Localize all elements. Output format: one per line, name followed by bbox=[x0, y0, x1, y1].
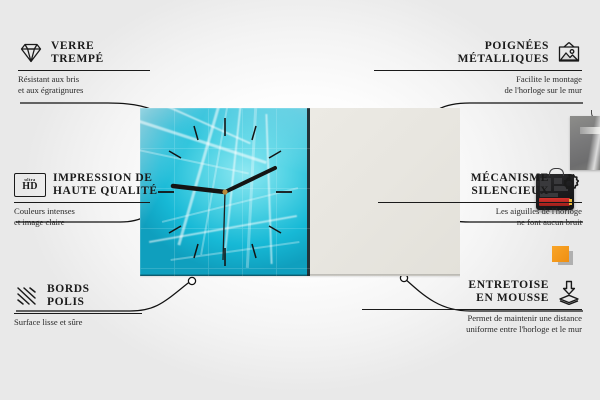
callout-title-line2: MÉTALLIQUES bbox=[458, 53, 549, 66]
callout-title-line1: BORDS bbox=[47, 283, 90, 296]
callout-bords-polis[interactable]: BORDS POLIS Surface lisse et sûre bbox=[14, 283, 142, 328]
clock-face bbox=[140, 108, 310, 276]
callout-rule bbox=[378, 202, 582, 203]
callout-title-line1: IMPRESSION DE bbox=[53, 172, 158, 185]
callout-mecanisme-silencieux[interactable]: MÉCANISME SILENCIEUX Les aiguilles de l'… bbox=[378, 172, 582, 227]
callout-title-line1: MÉCANISME bbox=[471, 172, 549, 185]
callout-desc-line2: de l'horloge sur le mur bbox=[374, 85, 582, 95]
callout-desc-line2: uniforme entre l'horloge et le mur bbox=[362, 324, 582, 334]
ultra-hd-large-text: HD bbox=[22, 182, 37, 192]
callout-impression-haute-qualite[interactable]: ultra HD IMPRESSION DE HAUTE QUALITÉ Cou… bbox=[14, 172, 158, 227]
callout-desc-line1: Permet de maintenir une distance bbox=[362, 313, 582, 323]
callout-verre-trempe[interactable]: VERRE TREMPÉ Résistant aux bris et aux é… bbox=[18, 40, 150, 95]
callout-desc-line1: Facilite le montage bbox=[374, 74, 582, 84]
callout-desc-line1: Couleurs intenses bbox=[14, 206, 158, 216]
clock-center-cap bbox=[222, 189, 227, 194]
callout-rule bbox=[14, 313, 142, 314]
polished-edges-icon bbox=[14, 283, 40, 309]
callout-desc-line1: Résistant aux bris bbox=[18, 74, 150, 84]
callout-title-line1: POIGNÉES bbox=[458, 40, 549, 53]
clock-minute-hand bbox=[225, 168, 275, 192]
callout-title-line2: EN MOUSSE bbox=[468, 292, 549, 305]
callout-title-line2: TREMPÉ bbox=[51, 53, 104, 66]
gear-icon bbox=[556, 172, 582, 198]
ultra-hd-icon: ultra HD bbox=[14, 173, 46, 197]
callout-title-line1: ENTRETOISE bbox=[468, 279, 549, 292]
product-shadow bbox=[140, 274, 460, 278]
diamond-icon bbox=[18, 40, 44, 66]
callout-desc-line1: Les aiguilles de l'horloge bbox=[378, 206, 582, 216]
metal-hanging-plate bbox=[570, 116, 600, 170]
callout-rule bbox=[362, 309, 582, 310]
callout-desc-line2: et image claire bbox=[14, 217, 158, 227]
callout-title-line2: POLIS bbox=[47, 296, 90, 309]
callout-rule bbox=[14, 202, 150, 203]
infographic-canvas: VERRE TREMPÉ Résistant aux bris et aux é… bbox=[0, 0, 600, 400]
callout-desc-line2: ne font aucun bruit bbox=[378, 217, 582, 227]
orange-foam-spacer bbox=[552, 246, 569, 262]
callout-poignees-metalliques[interactable]: POIGNÉES MÉTALLIQUES Facilite le montage… bbox=[374, 40, 582, 95]
clock-hour-hand bbox=[173, 186, 225, 192]
callout-rule bbox=[374, 70, 582, 71]
callout-point-bords-polis bbox=[188, 277, 195, 284]
callout-title-line1: VERRE bbox=[51, 40, 104, 53]
callout-desc-line2: et aux égratignures bbox=[18, 85, 150, 95]
callout-title-line2: SILENCIEUX bbox=[471, 185, 549, 198]
foam-spacer-icon bbox=[556, 279, 582, 305]
callout-title-line2: HAUTE QUALITÉ bbox=[53, 185, 158, 198]
callout-entretoise-en-mousse[interactable]: ENTRETOISE EN MOUSSE Permet de maintenir… bbox=[362, 279, 582, 334]
callout-rule bbox=[18, 70, 150, 71]
callout-desc-line1: Surface lisse et sûre bbox=[14, 317, 142, 327]
hanging-frame-icon bbox=[556, 40, 582, 66]
